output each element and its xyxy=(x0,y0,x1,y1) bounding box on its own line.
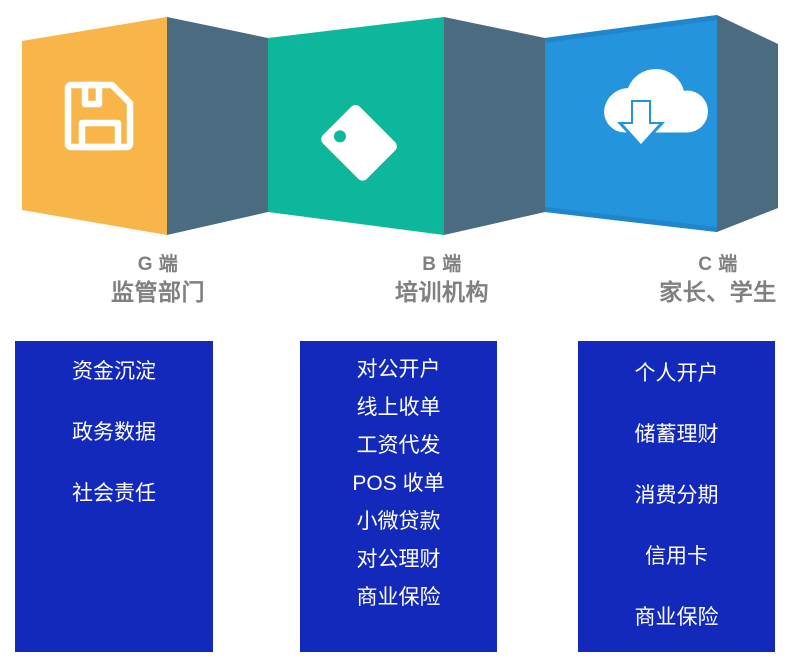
list-item[interactable]: 资金沉淀 xyxy=(15,361,213,382)
service-list-c: 个人开户 储蓄理财 消费分期 信用卡 商业保险 xyxy=(578,341,775,652)
segment-name-c: 家长、学生 xyxy=(588,277,792,307)
list-item[interactable]: 储蓄理财 xyxy=(578,424,775,445)
segment-code-g: G 端 xyxy=(28,252,288,277)
segment-heading-c: C 端 家长、学生 xyxy=(588,252,792,307)
list-item[interactable]: 信用卡 xyxy=(578,546,775,567)
infographic-canvas: G 端 监管部门 B 端 培训机构 C 端 家长、学生 资金沉淀 政务数据 社会… xyxy=(0,0,792,668)
list-item[interactable]: 社会责任 xyxy=(15,483,213,504)
segment-heading-g: G 端 监管部门 xyxy=(28,252,288,307)
service-list-b: 对公开户 线上收单 工资代发 POS 收单 小微贷款 对公理财 商业保险 xyxy=(300,341,497,652)
segment-code-b: B 端 xyxy=(312,252,572,277)
list-item[interactable]: 线上收单 xyxy=(300,397,497,418)
list-item[interactable]: 对公理财 xyxy=(300,549,497,570)
service-list-g: 资金沉淀 政务数据 社会责任 xyxy=(15,341,213,652)
fold-panel-2 xyxy=(444,17,545,235)
list-item[interactable]: 消费分期 xyxy=(578,485,775,506)
segment-name-b: 培训机构 xyxy=(312,277,572,307)
list-item[interactable]: 个人开户 xyxy=(578,363,775,384)
list-item[interactable]: POS 收单 xyxy=(300,473,497,494)
segment-name-g: 监管部门 xyxy=(28,277,288,307)
list-item[interactable]: 商业保险 xyxy=(578,607,775,628)
segment-headings: G 端 监管部门 B 端 培训机构 C 端 家长、学生 xyxy=(0,252,792,330)
list-item[interactable]: 工资代发 xyxy=(300,435,497,456)
segment-code-c: C 端 xyxy=(588,252,792,277)
list-item[interactable]: 对公开户 xyxy=(300,359,497,380)
list-item[interactable]: 商业保险 xyxy=(300,587,497,608)
list-item[interactable]: 小微贷款 xyxy=(300,511,497,532)
segment-heading-b: B 端 培训机构 xyxy=(312,252,572,307)
folded-ribbon-graphic xyxy=(0,0,792,248)
fold-panel-3 xyxy=(717,15,778,232)
fold-panel-1 xyxy=(167,17,268,235)
list-item[interactable]: 政务数据 xyxy=(15,422,213,443)
